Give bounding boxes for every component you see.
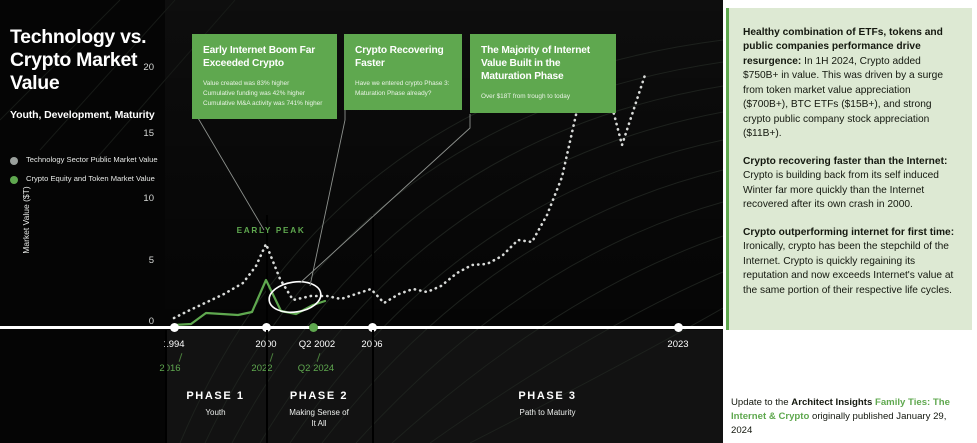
callout-box-majority-of-internet-value[interactable]: The Majority of Internet Value Built in … (470, 34, 616, 113)
x-tick-alt-2016: 2016 (135, 363, 205, 374)
phase-name-2: PHASE 2 (266, 390, 372, 402)
infographic-root: Technology vs. Crypto Market Value Youth… (0, 0, 977, 443)
insight-lead-2: Crypto recovering faster than the Intern… (743, 156, 947, 167)
footnote-bold: Architect Insights (791, 397, 872, 408)
insight-rest-2: Crypto is building back from its self in… (743, 170, 939, 210)
callout-connector-3 (300, 114, 470, 283)
phase-name-1: PHASE 1 (165, 390, 266, 402)
source-footnote: Update to the Architect Insights Family … (731, 396, 969, 438)
callout-connector-1 (198, 103, 264, 230)
x-tick-alt-q2-2024: Q2 2024 (281, 363, 351, 374)
x-tick-1994: 1994 (139, 339, 209, 350)
recovery-ellipse-annotation (267, 279, 323, 316)
callout-title-2: Crypto Recovering Faster (355, 44, 451, 70)
phase-divider-0 (165, 330, 167, 443)
phase-band-1: PHASE 1 Youth (165, 390, 266, 419)
callout-body-1: Value created was 83% higher Cumulative … (203, 79, 326, 108)
phase-desc-3: Path to Maturity (372, 408, 723, 419)
insights-side-panel: Healthy combination of ETFs, tokens and … (726, 8, 972, 330)
x-tick-2023: 2023 (643, 339, 713, 350)
callout-connector-2 (310, 110, 345, 286)
phase-band-2: PHASE 2 Making Sense of It All (266, 390, 372, 430)
axis-node-2023 (674, 323, 683, 332)
axis-node-1994 (170, 323, 179, 332)
axis-node-q2-2002 (309, 323, 318, 332)
callout-body-3: Over $18T from trough to today (481, 92, 605, 102)
insight-paragraph-1: Healthy combination of ETFs, tokens and … (743, 26, 956, 142)
insight-paragraph-3: Crypto outperforming internet for first … (743, 226, 956, 298)
chart-panel: Technology vs. Crypto Market Value Youth… (0, 0, 723, 443)
callout-body-2: Have we entered crypto Phase 3: Maturati… (355, 79, 451, 98)
insight-rest-1: In 1H 2024, Crypto added $750B+ in value… (743, 56, 943, 139)
insight-lead-3: Crypto outperforming internet for first … (743, 227, 954, 238)
footnote-pre: Update to the (731, 397, 791, 408)
callout-box-crypto-recovering-faster[interactable]: Crypto Recovering Faster Have we entered… (344, 34, 462, 110)
callout-title-3: The Majority of Internet Value Built in … (481, 44, 605, 83)
early-peak-annotation: EARLY PEAK (236, 225, 306, 236)
phase-name-3: PHASE 3 (372, 390, 723, 402)
insight-rest-3: Ironically, crypto has been the stepchil… (743, 241, 953, 295)
callout-box-early-internet-boom[interactable]: Early Internet Boom Far Exceeded Crypto … (192, 34, 337, 119)
phase-desc-1: Youth (165, 408, 266, 419)
phase-desc-2: Making Sense of It All (266, 408, 372, 430)
x-axis-baseline (0, 326, 723, 329)
phase-divider-2 (372, 330, 374, 443)
phase-band-3: PHASE 3 Path to Maturity (372, 390, 723, 419)
series-line-crypto (174, 280, 325, 325)
callout-title-1: Early Internet Boom Far Exceeded Crypto (203, 44, 326, 70)
insight-paragraph-2: Crypto recovering faster than the Intern… (743, 155, 956, 213)
